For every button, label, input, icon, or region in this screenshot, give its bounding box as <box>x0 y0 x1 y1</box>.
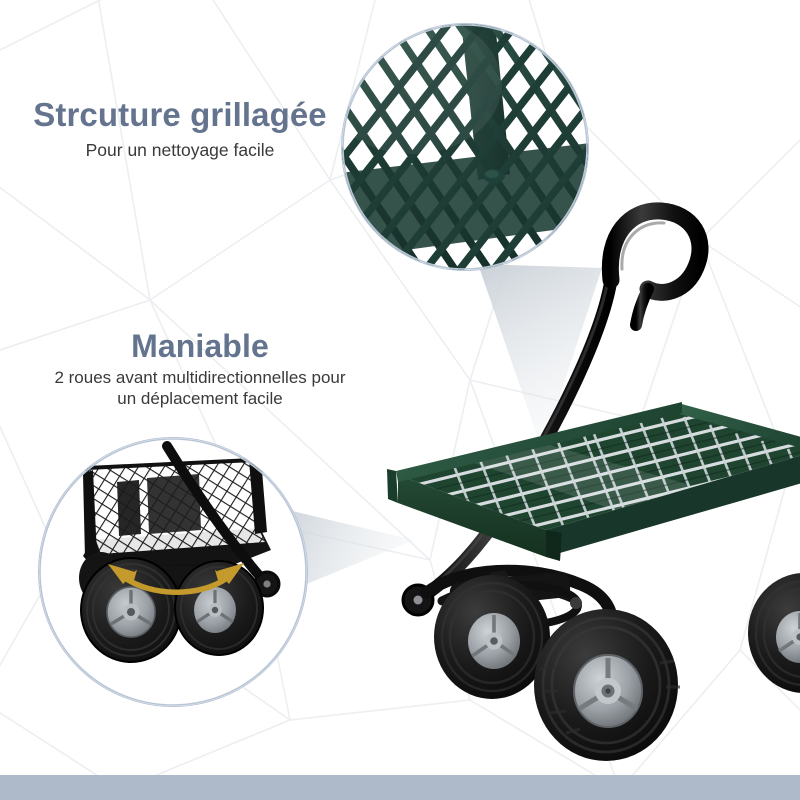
garden-cart-image <box>330 185 800 770</box>
wheel-rear-right <box>748 573 800 693</box>
feature-block-maneuverable: Maniable 2 roues avant multidirectionnel… <box>0 330 400 410</box>
swivel-wheel-circle <box>38 437 308 707</box>
feature-title-mesh-structure: Strcuture grillagée <box>0 98 360 133</box>
feature-subtitle-mesh-structure: Pour un nettoyage facile <box>0 139 360 161</box>
garden-cart <box>330 185 800 770</box>
feature-title-maneuverable: Maniable <box>0 330 400 364</box>
wheel-front-left <box>434 575 550 699</box>
bottom-accent-band <box>0 775 800 800</box>
feature-block-mesh-structure: Strcuture grillagée Pour un nettoyage fa… <box>0 98 360 161</box>
feature-subtitle-line-2: un déplacement facile <box>117 389 282 408</box>
marketing-image: Strcuture grillagée Pour un nettoyage fa… <box>0 0 800 800</box>
feature-subtitle-line-1: 2 roues avant multidirectionnelles pour <box>54 368 345 387</box>
swivel-wheels-icon <box>39 438 307 706</box>
wheel-front-right <box>534 609 680 761</box>
feature-subtitle-maneuverable: 2 roues avant multidirectionnelles pour … <box>0 367 400 411</box>
